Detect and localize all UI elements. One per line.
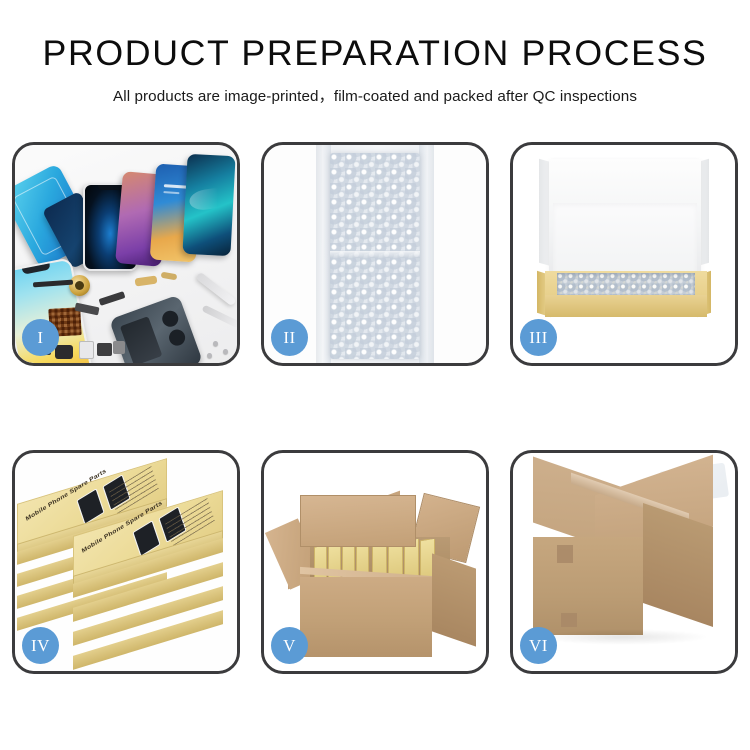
step-badge-1: I xyxy=(22,319,59,356)
tape-tab-icon xyxy=(561,613,577,627)
screwdriver-icon xyxy=(201,305,237,329)
step-panel-1: I xyxy=(12,142,240,366)
sim-tray-icon xyxy=(79,341,94,359)
tape-tab-icon xyxy=(557,545,573,563)
step-badge-3: III xyxy=(520,319,557,356)
step-badge-5: V xyxy=(271,627,308,664)
header: PRODUCT PREPARATION PROCESS All products… xyxy=(0,0,750,106)
button-part-icon xyxy=(113,341,125,354)
page-title: PRODUCT PREPARATION PROCESS xyxy=(0,36,750,71)
bag-seam xyxy=(330,251,420,258)
copper-coil-icon xyxy=(69,275,90,296)
flex-connector-icon xyxy=(99,291,126,306)
speaker-part-icon xyxy=(55,345,73,359)
page-subtitle: All products are image-printed，film-coat… xyxy=(0,84,750,106)
step-panel-4: Mobile Phone Spare Parts Mobile Phone Sp… xyxy=(12,450,240,674)
step-panel-5: V xyxy=(261,450,489,674)
screw-icon xyxy=(213,341,218,346)
screw-icon xyxy=(207,353,212,358)
carton-shadow xyxy=(539,629,709,645)
carton-front-face xyxy=(533,537,643,635)
carton-top-flap xyxy=(300,495,416,547)
box-base-front xyxy=(545,295,707,317)
foam-sheet-icon xyxy=(553,203,697,275)
camera-module-icon xyxy=(97,343,112,356)
screw-icon xyxy=(223,349,228,354)
phone-screen-teal-icon xyxy=(182,154,235,256)
process-step-grid: I II xyxy=(12,142,738,674)
step-badge-2: II xyxy=(271,319,308,356)
bubble-wrap-bag-icon xyxy=(316,145,434,363)
step-panel-3: III xyxy=(510,142,738,366)
tweezers-icon xyxy=(195,272,236,307)
step-badge-4: IV xyxy=(22,627,59,664)
step-panel-2: II xyxy=(261,142,489,366)
step-badge-6: VI xyxy=(520,627,557,664)
gold-flex-icon xyxy=(135,276,158,287)
gold-contact-icon xyxy=(161,272,178,281)
bag-right-edge xyxy=(419,145,428,363)
product-preparation-infographic: PRODUCT PREPARATION PROCESS All products… xyxy=(0,0,750,750)
step-panel-6: VI xyxy=(510,450,738,674)
carton-front-face xyxy=(300,577,432,657)
carton-right-side xyxy=(432,553,476,646)
